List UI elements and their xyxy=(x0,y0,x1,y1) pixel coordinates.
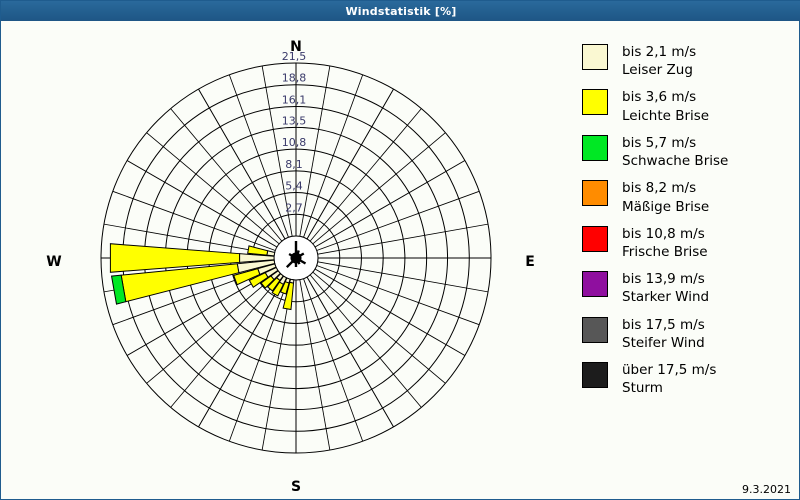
grid-spoke xyxy=(229,279,288,442)
legend-speed-label: bis 17,5 m/s xyxy=(622,316,705,334)
legend-color-swatch xyxy=(582,362,608,388)
legend-item[interactable]: bis 8,2 m/sMäßige Brise xyxy=(582,179,792,215)
grid-spoke xyxy=(171,109,282,242)
legend-item[interactable]: bis 3,6 m/sLeichte Brise xyxy=(582,88,792,124)
compass-label-east: E xyxy=(500,254,560,270)
wind-rose-segment xyxy=(267,251,275,256)
legend-name-label: Mäßige Brise xyxy=(622,198,709,216)
legend-speed-label: bis 13,9 m/s xyxy=(622,270,709,288)
compass-label-north: N xyxy=(266,39,326,55)
legend-speed-label: bis 10,8 m/s xyxy=(622,225,708,243)
grid-spoke xyxy=(310,109,421,242)
legend-item[interactable]: bis 10,8 m/sFrische Brise xyxy=(582,225,792,261)
legend-color-swatch xyxy=(582,271,608,297)
radial-tick-label: 13,5 xyxy=(282,114,307,127)
radial-tick-label: 8,1 xyxy=(285,158,303,171)
legend-name-label: Frische Brise xyxy=(622,243,708,261)
radial-tick-label: 16,1 xyxy=(282,93,307,106)
legend-color-swatch xyxy=(582,317,608,343)
grid-spoke xyxy=(307,277,394,427)
grid-spoke xyxy=(304,279,363,442)
radial-tick-label: 5,4 xyxy=(285,180,303,193)
legend-name-label: Leiser Zug xyxy=(622,61,696,79)
legend-color-swatch xyxy=(582,135,608,161)
legend-name-label: Leichte Brise xyxy=(622,107,709,125)
legend-speed-label: bis 3,6 m/s xyxy=(622,88,709,106)
legend-name-label: Steifer Wind xyxy=(622,334,705,352)
grid-spoke xyxy=(315,269,465,356)
compass-label-south: S xyxy=(266,479,326,495)
legend-name-label: Schwache Brise xyxy=(622,152,728,170)
legend-color-swatch xyxy=(582,44,608,70)
wind-rose-plot: 2,75,48,110,813,516,118,821,5 xyxy=(2,21,572,491)
grid-spoke xyxy=(304,75,363,238)
legend-speed-label: über 17,5 m/s xyxy=(622,361,716,379)
grid-spoke xyxy=(318,262,488,292)
legend-name-label: Starker Wind xyxy=(622,288,709,306)
wind-rose-segment xyxy=(248,246,268,255)
windstatistik-window: Windstatistik [%] 2,75,48,110,813,516,11… xyxy=(0,0,800,500)
grid-spoke xyxy=(171,275,282,408)
date-stamp: 9.3.2021 xyxy=(742,483,791,496)
legend-color-swatch xyxy=(582,180,608,206)
legend-color-swatch xyxy=(582,226,608,252)
grid-spoke xyxy=(300,66,330,236)
grid-spoke xyxy=(127,161,277,248)
legend-color-swatch xyxy=(582,89,608,115)
legend: bis 2,1 m/sLeiser Zugbis 3,6 m/sLeichte … xyxy=(582,43,792,407)
legend-item[interactable]: bis 5,7 m/sSchwache Brise xyxy=(582,134,792,170)
window-titlebar: Windstatistik [%] xyxy=(1,1,800,21)
window-title: Windstatistik [%] xyxy=(345,5,456,18)
legend-item[interactable]: über 17,5 m/sSturm xyxy=(582,361,792,397)
grid-spoke xyxy=(313,272,446,383)
legend-speed-label: bis 5,7 m/s xyxy=(622,134,728,152)
grid-spoke xyxy=(318,224,488,254)
legend-item[interactable]: bis 2,1 m/sLeiser Zug xyxy=(582,43,792,79)
radial-tick-labels: 2,75,48,110,813,516,118,821,5 xyxy=(282,50,307,214)
wind-rose-petals xyxy=(110,244,293,310)
grid-spoke xyxy=(315,161,465,248)
grid-spoke xyxy=(147,133,280,244)
legend-speed-label: bis 8,2 m/s xyxy=(622,179,709,197)
radial-tick-label: 2,7 xyxy=(285,201,303,214)
grid-spoke xyxy=(229,75,288,238)
grid-spoke xyxy=(317,191,480,250)
grid-spoke xyxy=(199,89,286,239)
grid-spoke xyxy=(310,275,421,408)
legend-name-label: Sturm xyxy=(622,379,716,397)
grid-spoke xyxy=(113,191,276,250)
grid-spoke xyxy=(199,277,286,427)
legend-item[interactable]: bis 13,9 m/sStarker Wind xyxy=(582,270,792,306)
radial-tick-label: 18,8 xyxy=(282,72,307,85)
grid-spoke xyxy=(307,89,394,239)
compass-label-west: W xyxy=(24,254,84,270)
legend-speed-label: bis 2,1 m/s xyxy=(622,43,696,61)
grid-spoke xyxy=(300,280,330,450)
grid-spoke xyxy=(317,266,480,325)
legend-item[interactable]: bis 17,5 m/sSteifer Wind xyxy=(582,316,792,352)
chart-canvas: 2,75,48,110,813,516,118,821,5 N E S W bi… xyxy=(2,21,799,499)
radial-tick-label: 10,8 xyxy=(282,136,307,149)
grid-spoke xyxy=(313,133,446,244)
hub-dot xyxy=(291,253,302,264)
